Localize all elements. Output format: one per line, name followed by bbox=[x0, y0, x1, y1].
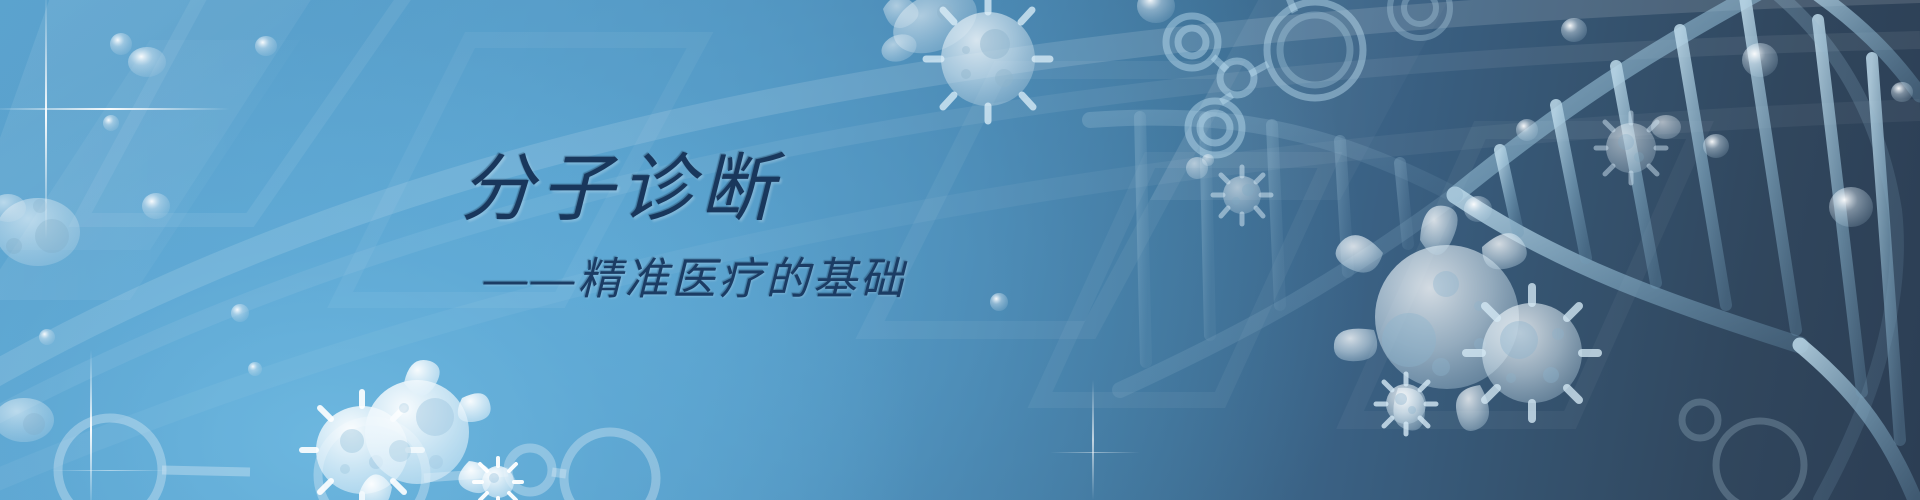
bacteria-left-bottom bbox=[0, 398, 54, 442]
molecule-mid-right bbox=[1682, 402, 1804, 500]
virus-helix-overlay bbox=[1596, 113, 1681, 183]
virus-small-right bbox=[1376, 374, 1436, 434]
virus-small-bottom bbox=[474, 458, 522, 500]
page-subtitle: ——精准医疗的基础 bbox=[0, 256, 1200, 304]
virus-bottom-center bbox=[302, 360, 522, 500]
dna-strand-group bbox=[1090, 0, 1920, 500]
virus-small-mid bbox=[1213, 167, 1271, 224]
sparkle-icon bbox=[1050, 380, 1140, 500]
sparkle-icon bbox=[50, 350, 170, 500]
molecule-top-right-2 bbox=[1390, 0, 1466, 38]
banner-title-block: 分子诊断 ——精准医疗的基础 bbox=[0, 150, 1200, 305]
virus-top-center bbox=[878, 0, 1050, 121]
page-title: 分子诊断 bbox=[0, 150, 1200, 228]
virus-right-large bbox=[1334, 206, 1598, 431]
molecular-diagnostics-banner: 分子诊断 ——精准医疗的基础 bbox=[0, 0, 1920, 500]
molecule-top-right bbox=[1166, 0, 1363, 155]
